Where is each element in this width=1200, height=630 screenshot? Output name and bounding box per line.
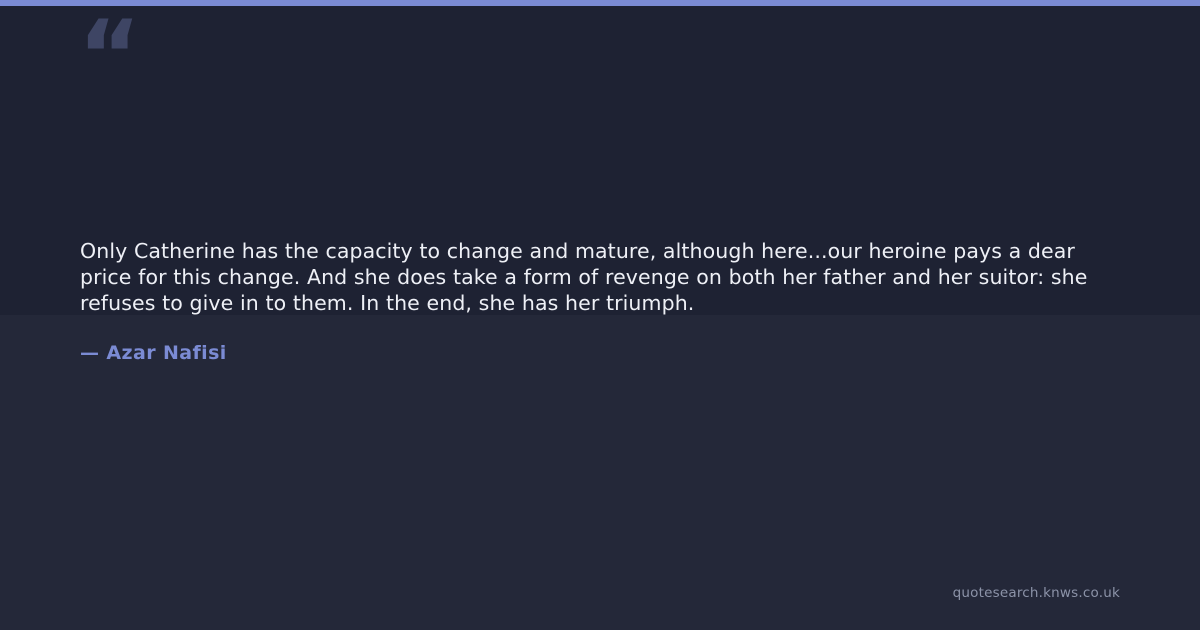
quote-text: Only Catherine has the capacity to chang… <box>80 238 1128 316</box>
top-accent-bar <box>0 0 1200 6</box>
quotation-mark-icon: “ <box>78 8 139 104</box>
quote-body: Only Catherine has the capacity to chang… <box>80 238 1128 316</box>
quote-author: — Azar Nafisi <box>80 340 227 366</box>
source-url: quotesearch.knws.co.uk <box>953 584 1120 602</box>
quote-card: “ Only Catherine has the capacity to cha… <box>0 0 1200 630</box>
